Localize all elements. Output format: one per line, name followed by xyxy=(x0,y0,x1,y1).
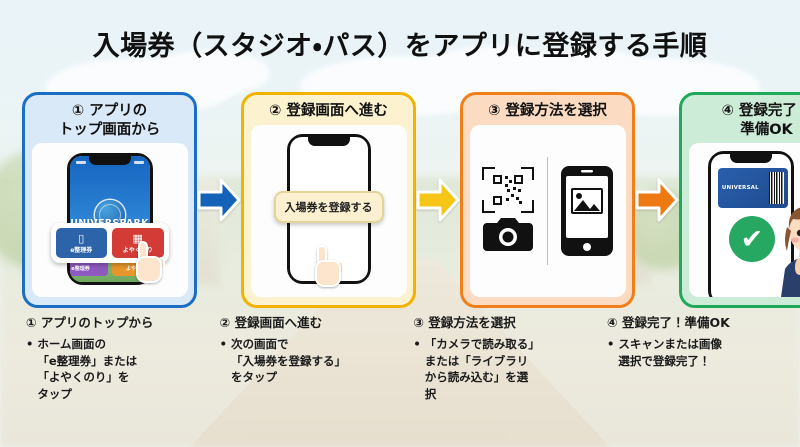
caption-text: スキャンまたは画像 選択で登録完了！ xyxy=(618,336,722,369)
captions-row: ① アプリのトップから • ホーム画面の 「e整理券」または 「よやくのり」を … xyxy=(22,312,778,440)
check-circle-icon: ✔ xyxy=(729,216,775,262)
caption-title: ① アプリのトップから xyxy=(26,312,193,331)
step-2-header: ② 登録画面へ進む xyxy=(269,102,388,121)
ticket-phone-icon: ▯ xyxy=(78,233,84,244)
step-card-3[interactable]: ③ 登録方法を選択 xyxy=(460,92,635,308)
option-camera-scan[interactable] xyxy=(470,167,547,254)
step-3-header: ③ 登録方法を選択 xyxy=(488,102,607,121)
bullet-icon: • xyxy=(607,336,614,369)
arrow-step3-to-step4 xyxy=(635,92,679,308)
arrow-step2-to-step3 xyxy=(416,92,460,308)
caption-text: ホーム画面の 「e整理券」または 「よやくのり」を タップ xyxy=(37,336,137,403)
staff-thumbs-up-icon xyxy=(771,197,800,297)
step-2-illustration: 入場券を登録する xyxy=(251,125,407,297)
caption-gap xyxy=(584,312,603,440)
bullet-icon: • xyxy=(26,336,33,403)
phone-notch xyxy=(89,156,131,165)
step-1-header: ① アプリの トップ画面から xyxy=(59,102,161,139)
caption-title: ③ 登録方法を選択 xyxy=(413,312,580,331)
caption-step-2: ② 登録画面へ進む • 次の画面で 「入場券を登録する」 をタップ xyxy=(216,312,391,440)
app-tile-label: e整理券 xyxy=(71,265,89,272)
bullet-icon: • xyxy=(413,336,420,403)
hand-pointer-icon xyxy=(309,243,347,287)
caption-list-item: • スキャンまたは画像 選択で登録完了！ xyxy=(607,336,774,369)
caption-text: 次の画面で 「入場券を登録する」 をタップ xyxy=(231,336,346,386)
caption-gap xyxy=(197,312,216,440)
app-tile-label: e整理券 xyxy=(70,245,92,254)
step-card-2[interactable]: ② 登録画面へ進む 入場券を登録する xyxy=(241,92,416,308)
caption-gap xyxy=(391,312,410,440)
step-card-4[interactable]: ④ 登録完了！ 準備OK UNIVERSAL ✔ xyxy=(679,92,800,308)
phone-notch xyxy=(730,154,772,163)
step-3-illustration xyxy=(470,125,626,297)
caption-list-item: • ホーム画面の 「e整理券」または 「よやくのり」を タップ xyxy=(26,336,193,403)
app-tile-eseiriken[interactable]: ▯ e整理券 xyxy=(56,228,108,258)
camera-icon xyxy=(481,214,535,254)
step-card-1[interactable]: ① アプリの トップ画面から UNIVERSPARK ▤ e整理券 xyxy=(22,92,197,308)
option-photo-library[interactable] xyxy=(548,164,625,258)
phone-notch xyxy=(308,137,350,146)
photo-library-phone-icon xyxy=(559,164,615,258)
ticket-logo-label: UNIVERSAL xyxy=(722,185,769,191)
step-4-illustration: UNIVERSAL ✔ xyxy=(689,143,800,297)
bullet-icon: • xyxy=(220,336,227,386)
caption-text: 「カメラで読み取る」 または「ライブラリ から読み込む」を選 択 xyxy=(425,336,540,403)
hand-pointer-icon xyxy=(130,239,168,283)
step-4-header: ④ 登録完了！ 準備OK xyxy=(722,102,800,139)
step-1-illustration: UNIVERSPARK ▤ e整理券 ▦ よやくのり xyxy=(32,143,188,297)
caption-title: ② 登録画面へ進む xyxy=(220,312,387,331)
arrow-step1-to-step2 xyxy=(197,92,241,308)
caption-list-item: • 次の画面で 「入場券を登録する」 をタップ xyxy=(220,336,387,386)
caption-step-4: ④ 登録完了！準備OK • スキャンまたは画像 選択で登録完了！ xyxy=(603,312,778,440)
qr-camera-icon xyxy=(482,167,534,213)
caption-title: ④ 登録完了！準備OK xyxy=(607,312,774,331)
page-title: 入場券（スタジオ・パス）をアプリに登録する手順 xyxy=(0,24,800,63)
steps-row: ① アプリの トップ画面から UNIVERSPARK ▤ e整理券 xyxy=(22,92,778,308)
register-ticket-button[interactable]: 入場券を登録する xyxy=(274,191,384,223)
caption-step-3: ③ 登録方法を選択 • 「カメラで読み取る」 または「ライブラリ から読み込む」… xyxy=(409,312,584,440)
caption-step-1: ① アプリのトップから • ホーム画面の 「e整理券」または 「よやくのり」を … xyxy=(22,312,197,440)
caption-list-item: • 「カメラで読み取る」 または「ライブラリ から読み込む」を選 択 xyxy=(413,336,580,403)
